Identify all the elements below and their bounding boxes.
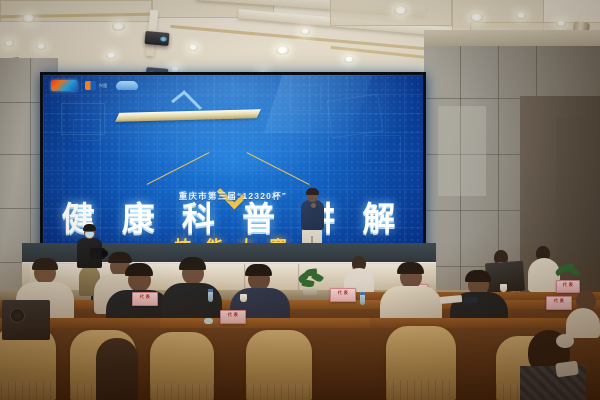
ceiling-projector <box>144 31 169 46</box>
name-placard: 代 表 <box>132 292 158 306</box>
name-placard: 代 表 <box>220 310 246 324</box>
floor-speaker <box>2 300 50 340</box>
downlight-icon <box>300 28 310 35</box>
tea-cup <box>240 294 247 302</box>
partner-logo-icon: 兴医 <box>85 81 108 90</box>
downlight-icon <box>276 46 289 55</box>
downlight-icon <box>36 43 46 50</box>
presenter-hair <box>306 188 319 195</box>
chair-skirt <box>386 380 456 400</box>
downlight-icon <box>188 44 198 51</box>
name-placard: 代 表 <box>556 280 580 293</box>
name-placard: 代 表 <box>330 288 356 302</box>
downlight-icon <box>394 6 407 15</box>
wall-panel-dark-inner <box>556 118 600 286</box>
chair-skirt <box>150 384 214 400</box>
cameraman-hair <box>83 224 96 231</box>
led-screen: 兴医 <box>43 75 423 265</box>
downlight-icon <box>106 52 116 59</box>
downlight-icon <box>22 14 35 23</box>
downlight-icon <box>470 13 483 22</box>
speaker-cone-icon <box>10 308 25 323</box>
tea-cup <box>500 284 507 292</box>
name-placard: 代 表 <box>546 296 572 310</box>
audience-body <box>566 308 600 338</box>
water-bottle <box>360 292 365 305</box>
camera-lens-icon <box>101 250 108 257</box>
face-mask-on-table <box>204 318 213 324</box>
audience-hair-bun-person <box>96 338 138 400</box>
conference-hall-photo: 兴医 重庆市第三届“12320杯” 健 康 科 普 讲 解 技 能 大 赛 主 … <box>0 0 600 400</box>
partner-logo-label: 兴医 <box>99 83 108 89</box>
downlight-icon <box>4 40 14 47</box>
downlight-icon <box>112 22 125 31</box>
screen-logo-row: 兴医 <box>51 80 138 91</box>
chair-skirt <box>246 384 312 400</box>
downlight-icon <box>344 56 354 63</box>
downlight-icon <box>556 20 566 27</box>
chair-skirt <box>0 382 56 400</box>
logo-12320-icon <box>51 80 77 91</box>
downlight-icon <box>516 12 526 19</box>
cloud-logo-icon <box>116 81 138 90</box>
water-bottle <box>208 289 213 302</box>
presenter-hand-with-microphone <box>311 203 316 208</box>
